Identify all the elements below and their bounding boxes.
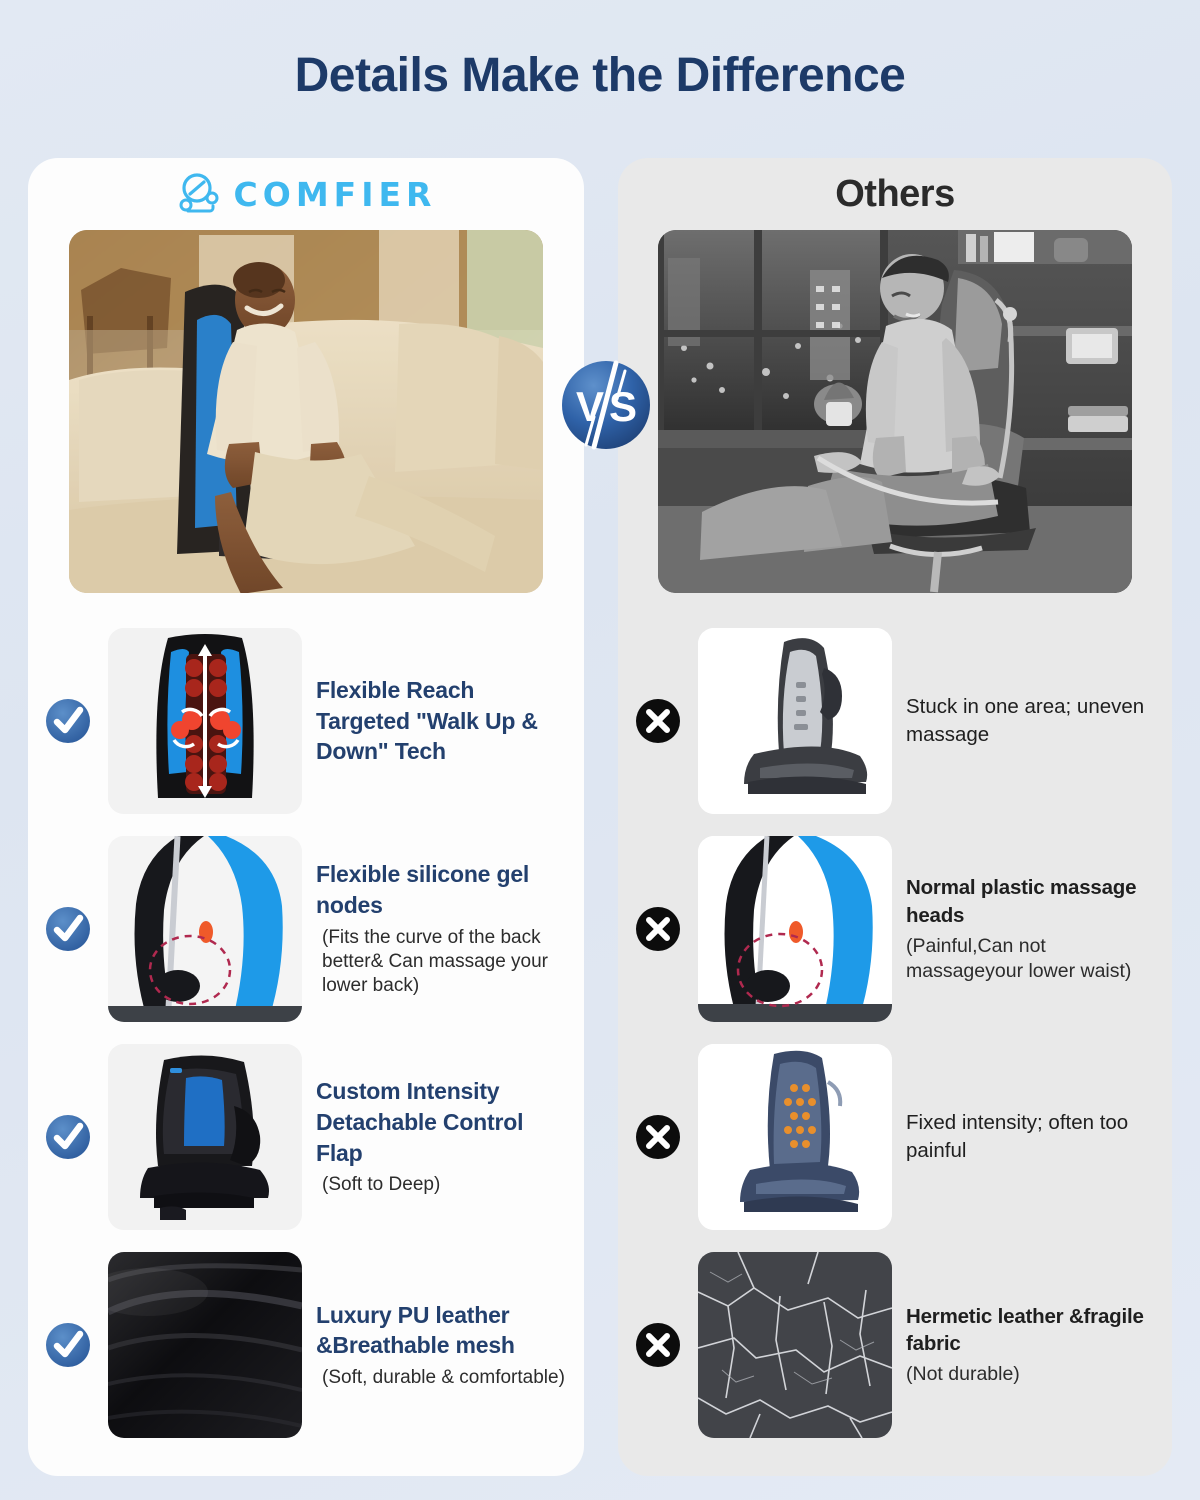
comfier-feature-title: Flexible Reach Targeted "Walk Up & Down"… [316, 677, 538, 764]
comfier-feature-text: Flexible Reach Targeted "Walk Up & Down"… [316, 675, 566, 767]
others-hero-image [658, 230, 1132, 593]
others-feature-title: Hermetic leather &fragile fabric [906, 1305, 1144, 1355]
x-circle-icon [632, 695, 684, 747]
others-feature-subtitle: (Not durable) [906, 1362, 1154, 1387]
others-feature-title: Stuck in one area; uneven massage [906, 695, 1144, 746]
x-circle-icon [632, 903, 684, 955]
comfier-feature-row: Flexible silicone gel nodes (Fits the cu… [28, 825, 584, 1033]
comfier-feature-subtitle: (Soft, durable & comfortable) [316, 1366, 566, 1390]
others-feature-row: Normal plastic massage heads (Painful,Ca… [618, 825, 1172, 1033]
check-circle-icon [42, 695, 94, 747]
comfier-feature-text: Flexible silicone gel nodes (Fits the cu… [316, 859, 566, 998]
others-feature-title: Normal plastic massage heads [906, 876, 1136, 926]
detachable-control-flap-image [108, 1044, 302, 1230]
massage-cushion-nodes-image [108, 628, 302, 814]
check-circle-icon [42, 1111, 94, 1163]
versus-badge: V S [556, 355, 656, 455]
gray-seat-massage-pad-image [698, 628, 892, 814]
x-circle-icon [632, 1111, 684, 1163]
others-feature-row: Hermetic leather &fragile fabric (Not du… [618, 1241, 1172, 1449]
comfier-hero-image [69, 230, 543, 593]
blue-heated-seat-cushion-image [698, 1044, 892, 1230]
others-feature-text: Normal plastic massage heads (Painful,Ca… [906, 874, 1154, 983]
comfier-brand-name: COMFIER [234, 175, 437, 214]
page-title: Details Make the Difference [0, 0, 1200, 103]
comfier-feature-row: Flexible Reach Targeted "Walk Up & Down"… [28, 617, 584, 825]
others-feature-title: Fixed intensity; often too painful [906, 1111, 1128, 1162]
comfier-logo-icon [176, 173, 222, 215]
others-title: Others [835, 173, 954, 216]
comfier-column: COMFIER [28, 158, 584, 1476]
comfier-brand-header: COMFIER [28, 158, 584, 230]
others-column: Others [618, 158, 1172, 1476]
comfier-feature-text: Custom Intensity Detachable Control Flap… [316, 1076, 566, 1197]
check-circle-icon [42, 1319, 94, 1371]
comfier-feature-title: Luxury PU leather &Breathable mesh [316, 1302, 515, 1359]
others-feature-text: Hermetic leather &fragile fabric (Not du… [906, 1303, 1154, 1387]
comfier-feature-title: Custom Intensity Detachable Control Flap [316, 1078, 523, 1165]
others-feature-text: Fixed intensity; often too painful [906, 1109, 1154, 1164]
comfier-feature-list: Flexible Reach Targeted "Walk Up & Down"… [28, 593, 584, 1449]
others-feature-subtitle: (Painful,Can not massageyour lower waist… [906, 934, 1154, 984]
comfier-feature-subtitle: (Fits the curve of the back better& Can … [316, 926, 566, 999]
others-feature-text: Stuck in one area; uneven massage [906, 693, 1154, 748]
others-feature-row: Stuck in one area; uneven massage [618, 617, 1172, 825]
cracked-leather-texture-image [698, 1252, 892, 1438]
x-circle-icon [632, 1319, 684, 1371]
check-circle-icon [42, 903, 94, 955]
silicone-gel-node-closeup-image [108, 836, 302, 1022]
pu-leather-texture-image [108, 1252, 302, 1438]
others-header: Others [618, 158, 1172, 230]
comfier-feature-row: Luxury PU leather &Breathable mesh (Soft… [28, 1241, 584, 1449]
comfier-feature-title: Flexible silicone gel nodes [316, 861, 529, 918]
plastic-massage-head-closeup-image [698, 836, 892, 1022]
others-feature-list: Stuck in one area; uneven massage [618, 593, 1172, 1449]
comfier-feature-subtitle: (Soft to Deep) [316, 1173, 566, 1197]
others-feature-row: Fixed intensity; often too painful [618, 1033, 1172, 1241]
comfier-feature-text: Luxury PU leather &Breathable mesh (Soft… [316, 1300, 566, 1390]
versus-s-letter: S [609, 383, 637, 430]
comfier-feature-row: Custom Intensity Detachable Control Flap… [28, 1033, 584, 1241]
